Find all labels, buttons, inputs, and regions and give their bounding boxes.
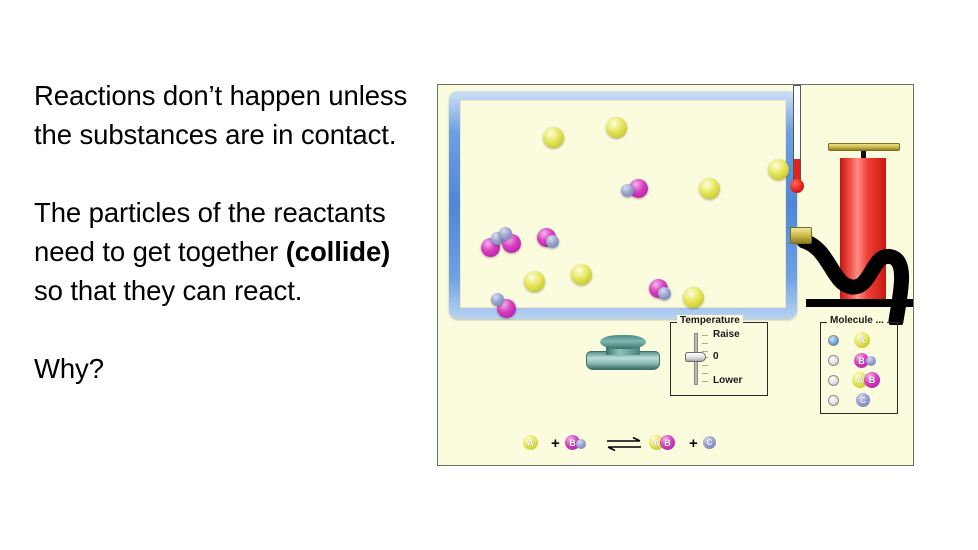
equation-operator-plus: + xyxy=(551,435,560,452)
sphere-b: B xyxy=(660,435,675,450)
reaction-chamber xyxy=(449,91,797,319)
thermometer-icon xyxy=(790,85,804,205)
molecule-icon-c: C xyxy=(852,391,892,409)
burner-dish xyxy=(600,335,646,349)
molecule-option-a[interactable]: A xyxy=(826,331,892,349)
temperature-label-lower: Lower xyxy=(713,375,742,386)
temperature-slider-thumb[interactable] xyxy=(685,352,706,362)
radio-button-a[interactable] xyxy=(828,335,839,346)
hose-svg xyxy=(796,235,914,325)
burner-stand-icon[interactable] xyxy=(583,335,663,373)
particle-a xyxy=(683,287,704,308)
equation-molecule-c: C xyxy=(703,433,743,451)
paragraph-spacer xyxy=(34,154,426,193)
slider-tick xyxy=(702,343,708,344)
sphere-c xyxy=(866,356,876,366)
radio-button-ab[interactable] xyxy=(828,375,839,386)
collide-post-text: so that they can react. xyxy=(34,275,302,306)
particle-a xyxy=(768,159,789,180)
particle-c xyxy=(499,227,512,240)
sphere-b: B xyxy=(864,372,880,388)
temperature-control-group: Temperature Raise 0 Lower xyxy=(670,322,768,396)
particle-c xyxy=(658,287,671,300)
slider-tick xyxy=(702,381,708,382)
paragraph-why: Why? xyxy=(34,349,426,388)
collide-keyword: (collide) xyxy=(286,236,391,267)
particle-a xyxy=(699,178,720,199)
molecule-option-b[interactable]: B xyxy=(826,351,892,369)
thermometer-bulb xyxy=(790,179,804,193)
sphere-c: C xyxy=(856,393,870,407)
molecule-icon-ab: AB xyxy=(852,371,892,389)
molecule-icon-a: A xyxy=(852,331,892,349)
equilibrium-arrow-icon xyxy=(605,436,645,454)
equation-molecule-b: B xyxy=(565,433,605,451)
slider-tick xyxy=(702,373,708,374)
particle-c xyxy=(546,235,559,248)
sphere-c xyxy=(576,439,586,449)
radio-button-c[interactable] xyxy=(828,395,839,406)
slide-body-text: Reactions don’t happen unless the substa… xyxy=(34,76,426,388)
sphere-a: A xyxy=(854,332,870,348)
paragraph-contact: Reactions don’t happen unless the substa… xyxy=(34,76,426,154)
chamber-valve[interactable] xyxy=(790,227,812,244)
slider-tick xyxy=(702,335,708,336)
sphere-c: C xyxy=(703,436,716,449)
temperature-label-zero: 0 xyxy=(713,351,719,362)
particle-a xyxy=(524,271,545,292)
slider-tick xyxy=(702,365,708,366)
simulation-screenshot-panel: Temperature Raise 0 Lower Molecule ... A… xyxy=(437,84,914,466)
particle-c xyxy=(621,184,634,197)
molecule-option-c[interactable]: C xyxy=(826,391,892,409)
pump-hose xyxy=(796,235,914,325)
sphere-a: A xyxy=(523,435,538,450)
particle-a xyxy=(543,127,564,148)
pump-handle[interactable] xyxy=(828,143,900,151)
particle-a xyxy=(606,117,627,138)
particle-c xyxy=(491,293,504,306)
molecule-icon-b: B xyxy=(852,351,892,369)
temperature-label-raise: Raise xyxy=(713,329,740,340)
radio-button-b[interactable] xyxy=(828,355,839,366)
reaction-equation: A+BAB+C xyxy=(523,433,823,457)
molecule-option-ab[interactable]: AB xyxy=(826,371,892,389)
particle-a xyxy=(571,264,592,285)
equation-operator-plus: + xyxy=(689,435,698,452)
paragraph-collide: The particles of the reactants need to g… xyxy=(34,193,426,310)
temperature-group-title: Temperature xyxy=(677,315,743,326)
paragraph-spacer-2 xyxy=(34,310,426,349)
chamber-interior xyxy=(460,100,786,308)
molecule-control-group: Molecule ... ABABC xyxy=(820,322,898,414)
molecule-group-title: Molecule ... xyxy=(827,315,887,326)
equation-molecule-ab: AB xyxy=(649,433,689,451)
